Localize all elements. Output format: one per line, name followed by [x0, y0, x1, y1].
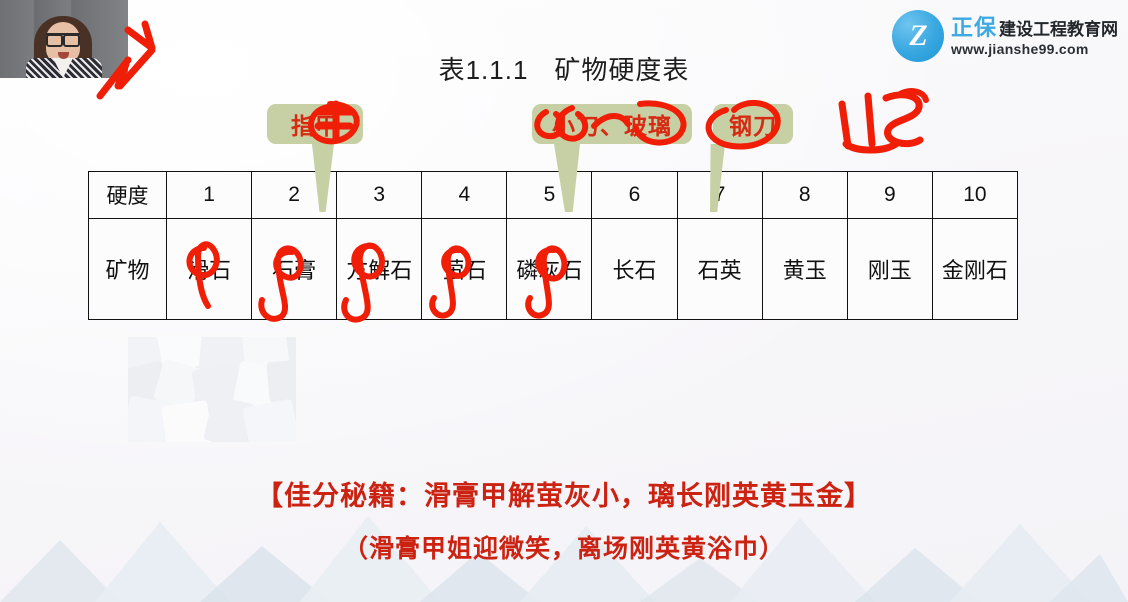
logo-brand-secondary: 建设工程教育网 [999, 21, 1118, 39]
mineral-cell-9: 刚玉 [847, 219, 932, 320]
mineral-cell-7: 石英 [677, 219, 762, 320]
callout-knife-glass: 小刀、玻璃 [532, 104, 692, 144]
mineral-cell-10: 金刚石 [932, 219, 1017, 320]
mineral-cell-3: 方解石 [337, 219, 422, 320]
hardness-cell-4: 4 [422, 172, 507, 219]
callout-knife-glass-label: 小刀、玻璃 [552, 107, 672, 141]
mineral-cell-6: 长石 [592, 219, 677, 320]
callout-fingernail: 指甲 [267, 104, 363, 144]
mineral-cell-1: 滑石 [167, 219, 252, 320]
mnemonic-line-2: （滑膏甲姐迎微笑，离场刚英黄浴巾） [0, 529, 1128, 565]
hardness-cell-10: 10 [932, 172, 1017, 219]
mineral-cell-2: 石膏 [252, 219, 337, 320]
hardness-cell-3: 3 [337, 172, 422, 219]
table-row-hardness: 硬度 1 2 3 4 5 6 7 8 9 10 [89, 172, 1018, 219]
mineral-hardness-table: 硬度 1 2 3 4 5 6 7 8 9 10 矿物 滑石 石膏 方解石 萤石 … [88, 171, 1018, 320]
hardness-cell-6: 6 [592, 172, 677, 219]
logo-brand-row: 正保 建设工程教育网 [951, 16, 1118, 39]
callout-fingernail-label: 指甲 [291, 107, 339, 141]
title-text: 矿物硬度表 [554, 55, 689, 85]
hardness-cell-8: 8 [762, 172, 847, 219]
glasses-icon [46, 33, 80, 42]
mnemonic-line-1: 【佳分秘籍：滑膏甲解萤灰小，璃长刚英黄玉金】 [0, 474, 1128, 513]
hardness-cell-1: 1 [167, 172, 252, 219]
hardness-cell-9: 9 [847, 172, 932, 219]
hardness-cell-5: 5 [507, 172, 592, 219]
mineral-photo [128, 337, 296, 442]
row-label-hardness: 硬度 [89, 172, 167, 219]
page-title: 表1.1.1矿物硬度表 [0, 50, 1128, 87]
mineral-cell-4: 萤石 [422, 219, 507, 320]
callout-steel-knife: 钢刀 [713, 104, 793, 144]
logo-brand-primary: 正保 [951, 16, 997, 39]
callout-steel-knife-label: 钢刀 [729, 107, 777, 141]
table-row-mineral: 矿物 滑石 石膏 方解石 萤石 磷灰石 长石 石英 黄玉 刚玉 金刚石 [89, 219, 1018, 320]
mineral-cell-5: 磷灰石 [507, 219, 592, 320]
title-number: 表1.1.1 [439, 55, 529, 85]
mineral-cell-8: 黄玉 [762, 219, 847, 320]
row-label-mineral: 矿物 [89, 219, 167, 320]
